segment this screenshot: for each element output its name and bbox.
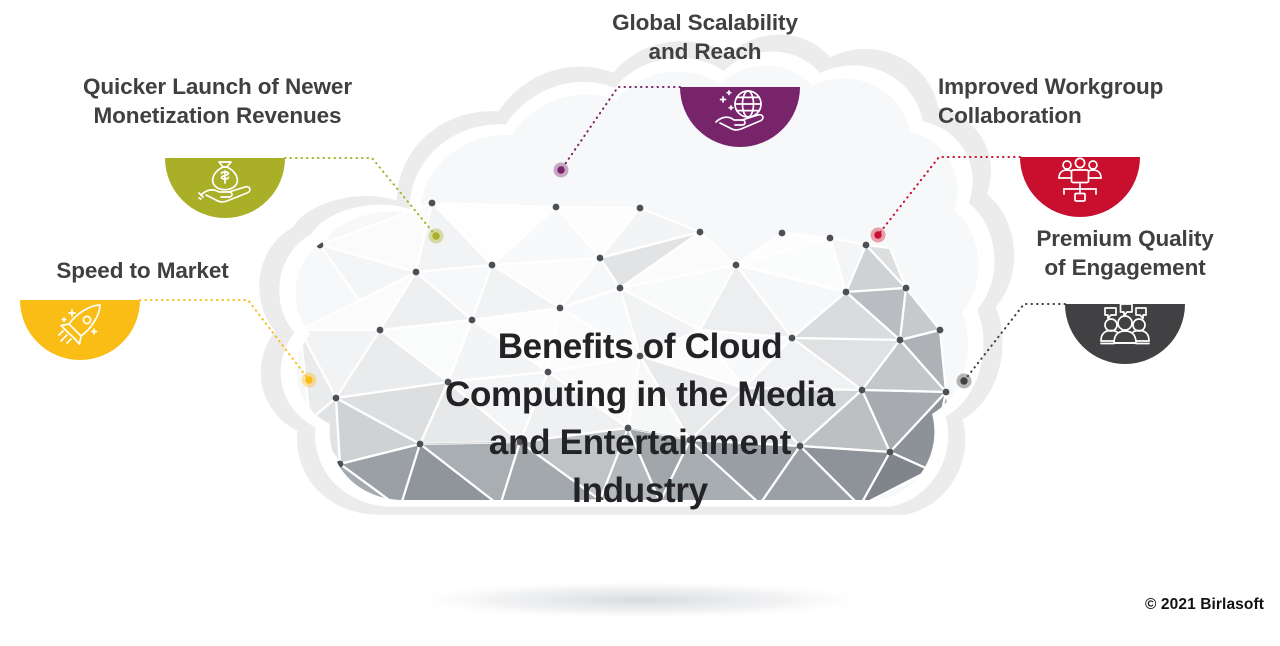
badge-semicircle-premium-engagement — [1065, 304, 1185, 364]
benefit-badge-improved-collaboration[interactable] — [1020, 157, 1140, 217]
benefit-badge-premium-engagement[interactable] — [1065, 304, 1185, 364]
page-title: Benefits of Cloud Computing in the Media… — [390, 323, 890, 515]
copyright-notice: © 2021 Birlasoft — [1145, 596, 1264, 614]
connector-dot-global-scalability — [557, 166, 564, 173]
badge-semicircle-speed-to-market — [20, 300, 140, 360]
benefit-label-global-scalability: Global Scalability and Reach — [560, 8, 850, 66]
connector-dot-improved-collaboration — [874, 231, 881, 238]
connector-dot-quicker-launch — [432, 232, 439, 239]
connector-dot-speed-to-market — [305, 376, 312, 383]
benefit-badge-speed-to-market[interactable] — [20, 300, 140, 360]
infographic-canvas: Quicker Launch of Newer Monetization Rev… — [0, 0, 1280, 646]
benefit-label-quicker-launch: Quicker Launch of Newer Monetization Rev… — [30, 72, 405, 130]
benefit-label-premium-engagement: Premium Quality of Engagement — [1002, 224, 1248, 282]
connector-dot-premium-engagement — [960, 377, 967, 384]
benefit-badge-quicker-launch[interactable] — [165, 158, 285, 218]
benefit-label-improved-collaboration: Improved Workgroup Collaboration — [938, 72, 1238, 130]
cloud-drop-shadow — [395, 580, 885, 620]
benefit-label-speed-to-market: Speed to Market — [10, 256, 275, 285]
